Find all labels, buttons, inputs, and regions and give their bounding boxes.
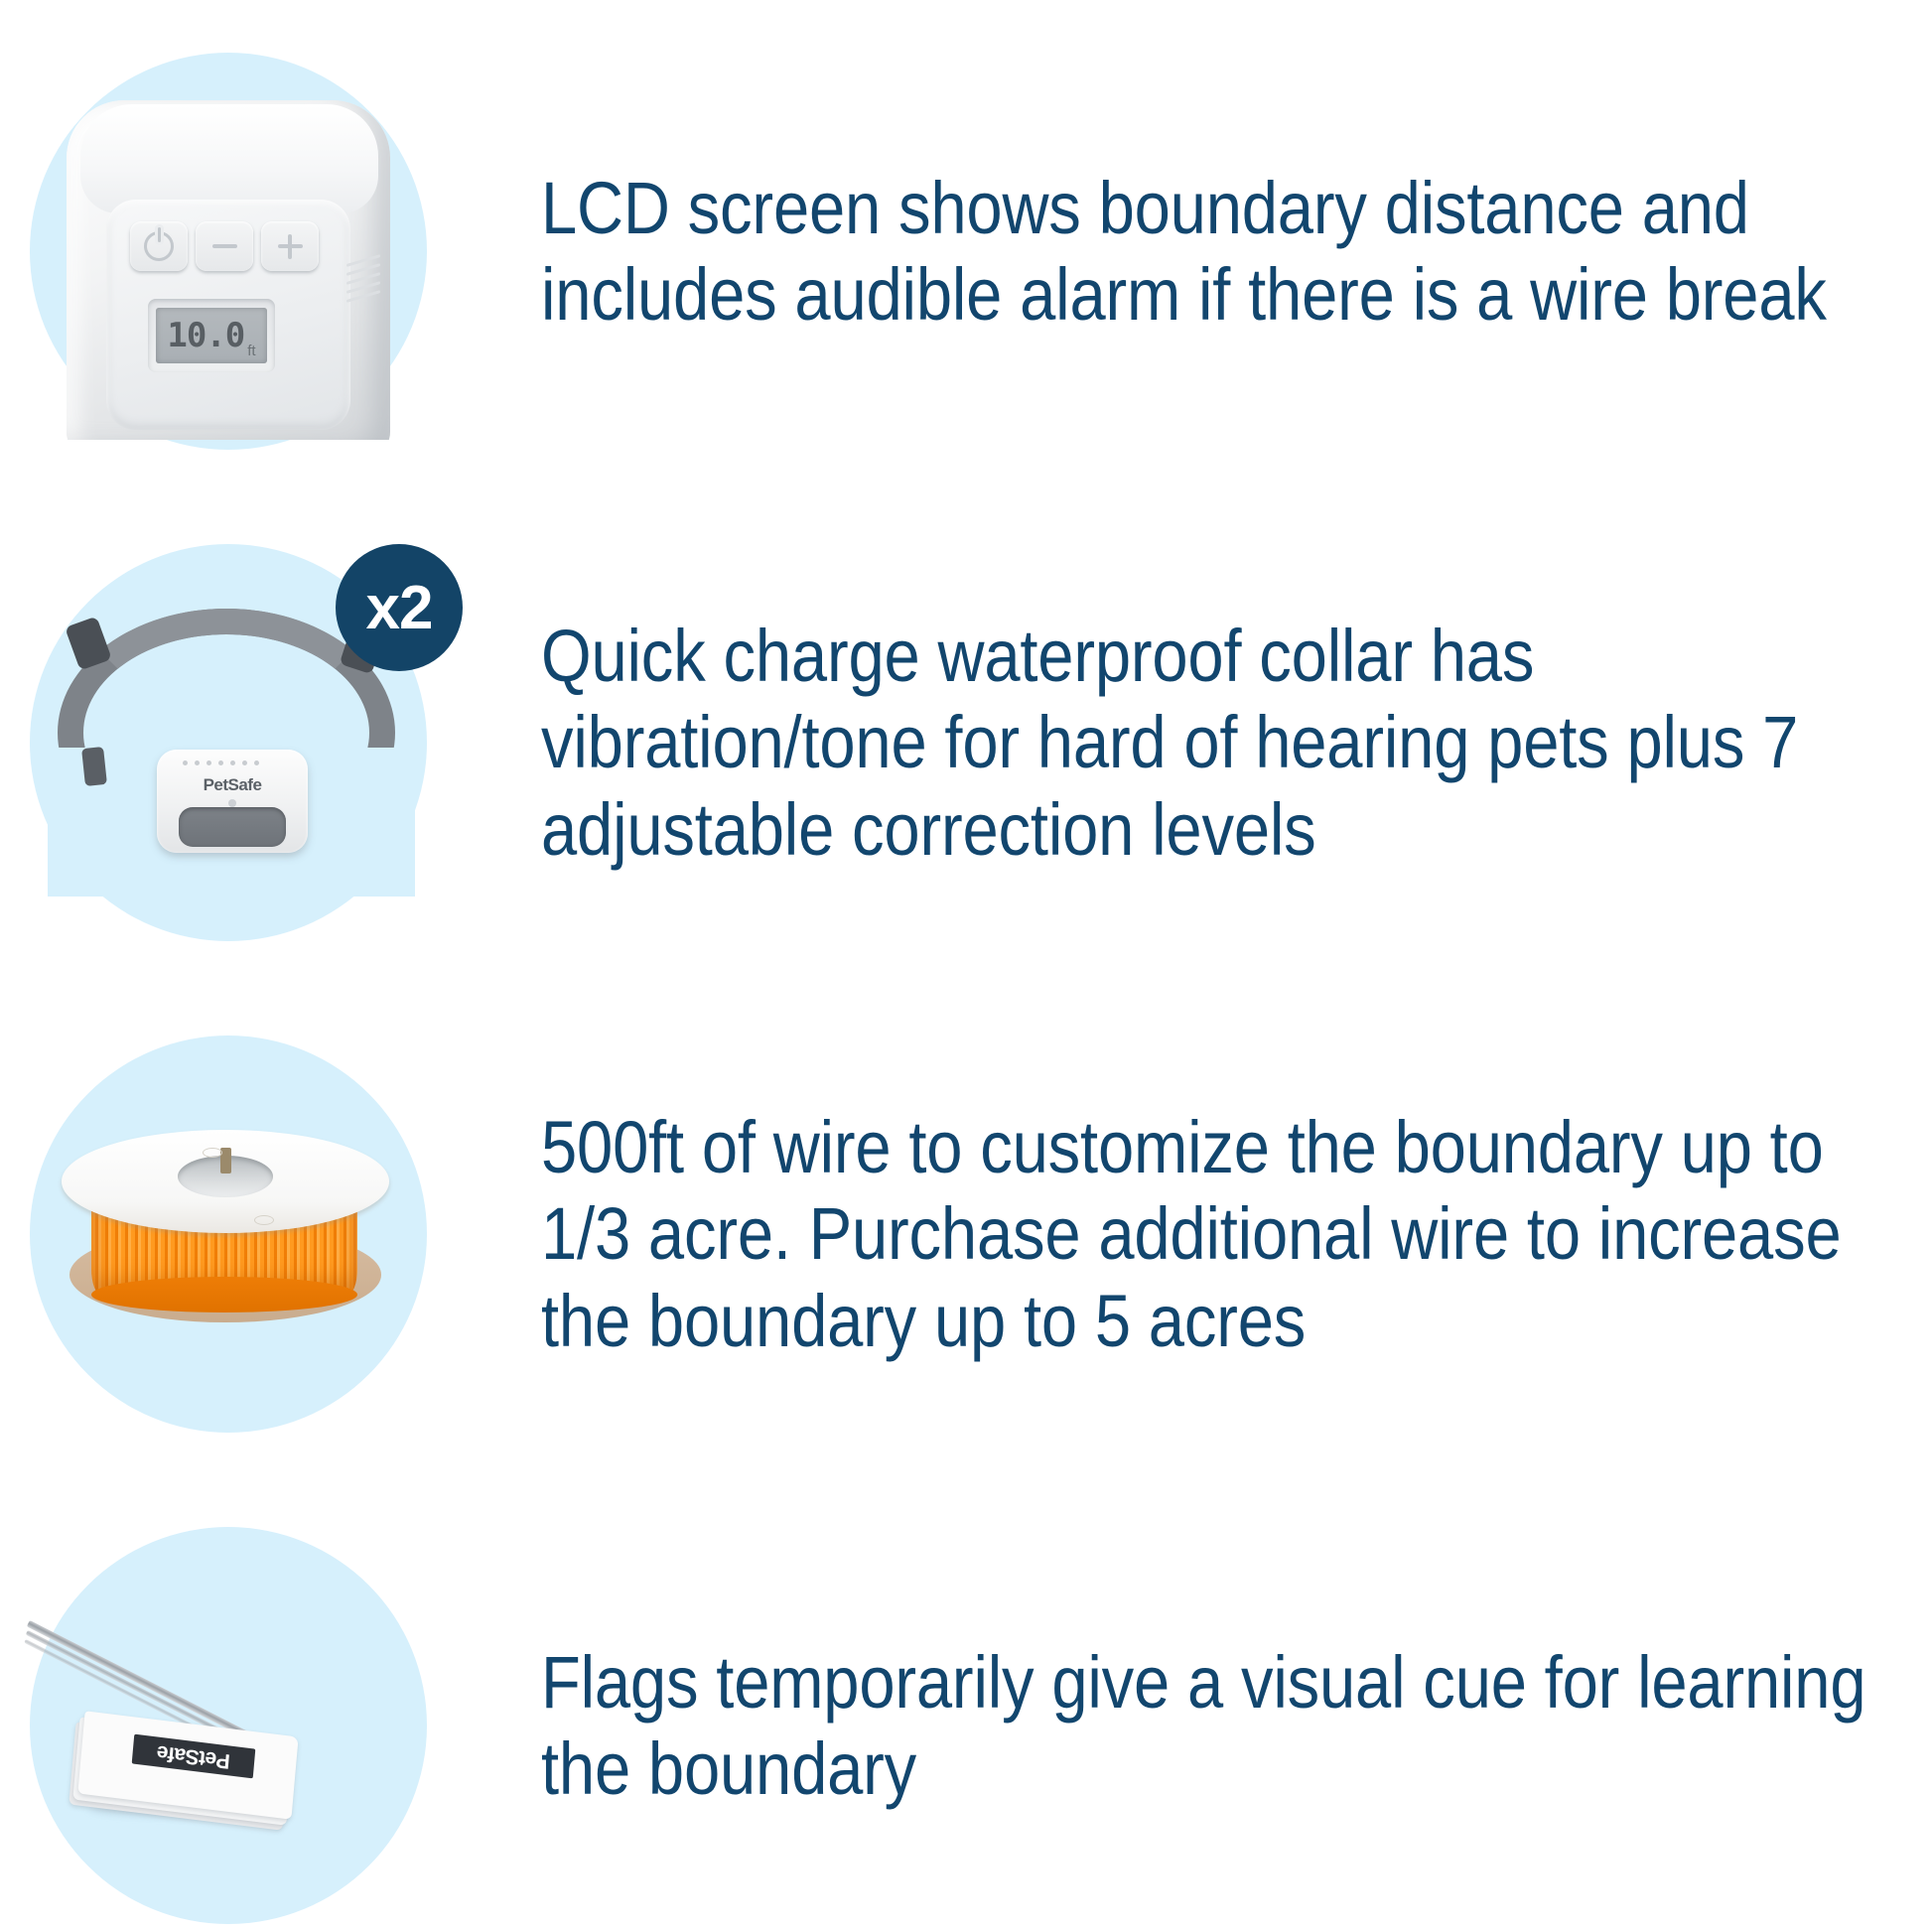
receiver-brand-label: PetSafe xyxy=(157,775,308,795)
infographic-sheet: 10.0 ft LCD screen shows boundary distan… xyxy=(0,0,1932,1932)
collar-keeper-loop xyxy=(81,747,107,786)
lcd-bezel: 10.0 ft xyxy=(148,299,275,372)
flag-stack: PetSafe xyxy=(81,1724,295,1815)
lcd-screen: 10.0 ft xyxy=(156,308,267,363)
text-column: Flags temporarily give a visual cue for … xyxy=(541,1566,1932,1886)
power-button[interactable] xyxy=(130,221,188,271)
text-column: 500ft of wire to customize the boundary … xyxy=(541,1031,1932,1438)
plus-icon xyxy=(261,221,319,271)
feature-text-boundary-wire: 500ft of wire to customize the boundary … xyxy=(541,1104,1904,1364)
spool-hole xyxy=(254,1215,274,1225)
lcd-distance-value: 10.0 xyxy=(167,319,244,352)
power-icon xyxy=(130,221,188,271)
media-column: 10.0 ft xyxy=(0,53,541,450)
text-column: Quick charge waterproof collar has vibra… xyxy=(541,539,1932,946)
feature-text-receiver-collar: Quick charge waterproof collar has vibra… xyxy=(541,613,1904,873)
text-column: LCD screen shows boundary distance and i… xyxy=(541,91,1932,412)
plus-button[interactable] xyxy=(261,221,319,271)
feature-text-lcd-transmitter: LCD screen shows boundary distance and i… xyxy=(541,165,1904,339)
minus-button[interactable] xyxy=(196,221,253,271)
receiver-status-led-icon xyxy=(228,799,236,807)
receiver-vent-dots-icon xyxy=(183,760,259,765)
quantity-badge: x2 xyxy=(336,544,463,671)
feature-text-boundary-flags: Flags temporarily give a visual cue for … xyxy=(541,1639,1904,1813)
media-column: PetSafe x2 xyxy=(0,544,541,941)
spool-top-flange xyxy=(62,1130,389,1233)
wall-transmitter-icon: 10.0 ft xyxy=(55,72,402,440)
feature-row-boundary-wire: 500ft of wire to customize the boundary … xyxy=(0,1035,1932,1433)
wire-spool-icon xyxy=(62,1120,389,1348)
media-column xyxy=(0,1035,541,1433)
media-column: PetSafe xyxy=(0,1527,541,1924)
minus-icon xyxy=(196,221,253,271)
boundary-flags-icon: PetSafe xyxy=(20,1606,397,1855)
feature-row-boundary-flags: PetSafe Flags temporarily give a visual … xyxy=(0,1527,1932,1924)
transmitter-top-cap xyxy=(80,104,378,213)
lcd-distance-unit: ft xyxy=(247,343,255,363)
feature-row-lcd-transmitter: 10.0 ft LCD screen shows boundary distan… xyxy=(0,53,1932,450)
receiver-contact-plate xyxy=(179,807,286,847)
collar-receiver-module: PetSafe xyxy=(157,750,308,853)
feature-row-receiver-collar: PetSafe x2 Quick charge waterproof colla… xyxy=(0,544,1932,941)
vent-slots-icon xyxy=(346,259,380,303)
spool-hole xyxy=(203,1148,222,1158)
